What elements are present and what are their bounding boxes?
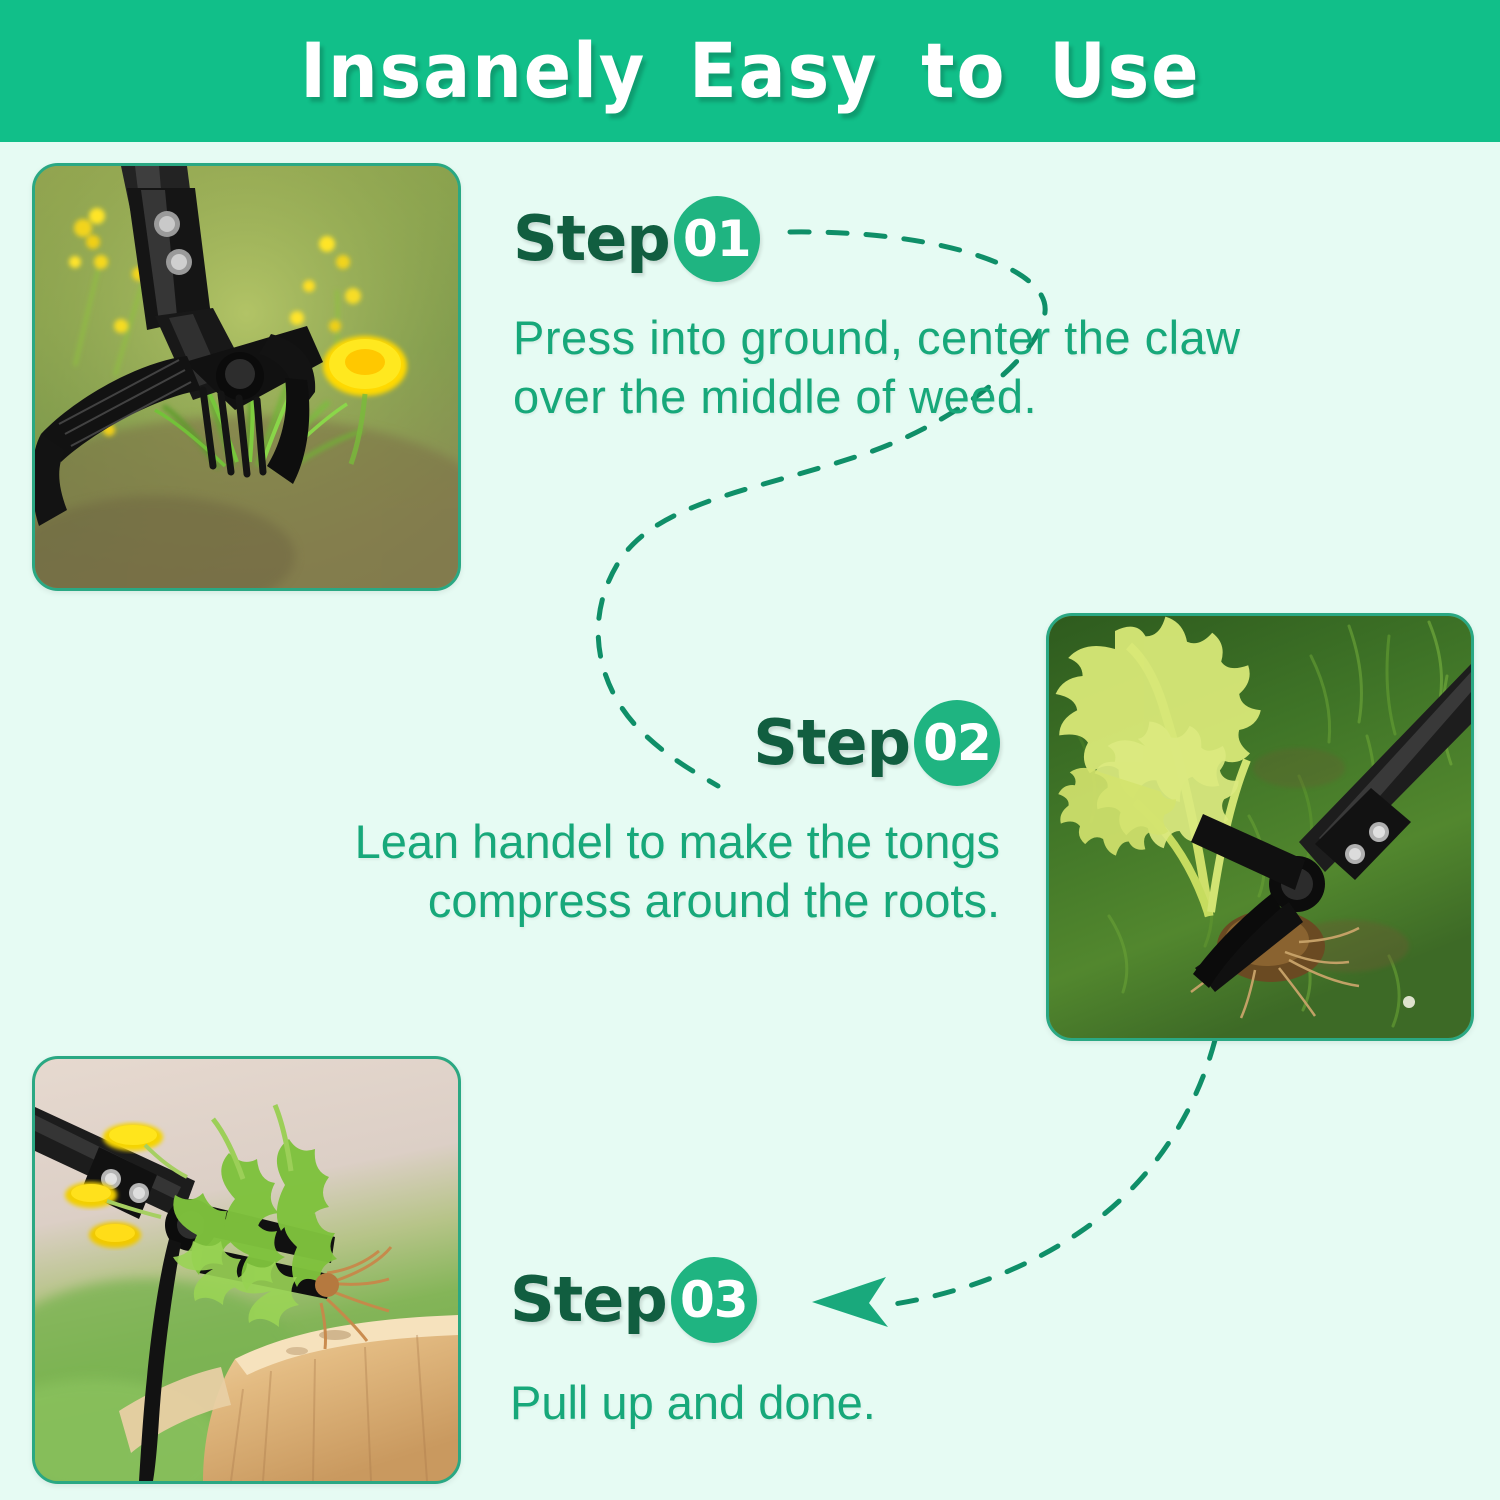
step-1-number: 01 [683,214,751,264]
step-1-heading: Step 01 [513,196,1393,282]
step-3-number-badge: 03 [671,1257,757,1343]
step-1-block: Step 01 Press into ground, center the cl… [513,196,1393,426]
step-2-description: Lean handel to make the tongs compress a… [240,812,1000,930]
step-3-label: Step [510,1269,667,1331]
step-1-label: Step [513,208,670,270]
step-2-heading: Step 02 [240,700,1000,786]
step-1-description: Press into ground, center the claw over … [513,308,1393,426]
infographic-stage: Step 01 Press into ground, center the cl… [0,0,1500,1500]
photo-1-illustration [35,166,458,588]
step-3-number: 03 [680,1275,748,1325]
step-1-photo [32,163,461,591]
step-1-number-badge: 01 [674,196,760,282]
step-2-label: Step [753,712,910,774]
step-3-block: Step 03 Pull up and done. [510,1257,1070,1432]
step-2-number-badge: 02 [914,700,1000,786]
step-2-photo [1046,613,1474,1041]
step-2-block: Step 02 Lean handel to make the tongs co… [240,700,1000,930]
step-2-number: 02 [923,718,991,768]
photo-2-illustration [1049,616,1471,1038]
step-3-heading: Step 03 [510,1257,1070,1343]
step-3-photo [32,1056,461,1484]
photo-3-illustration [35,1059,458,1481]
step-3-description: Pull up and done. [510,1373,1070,1432]
